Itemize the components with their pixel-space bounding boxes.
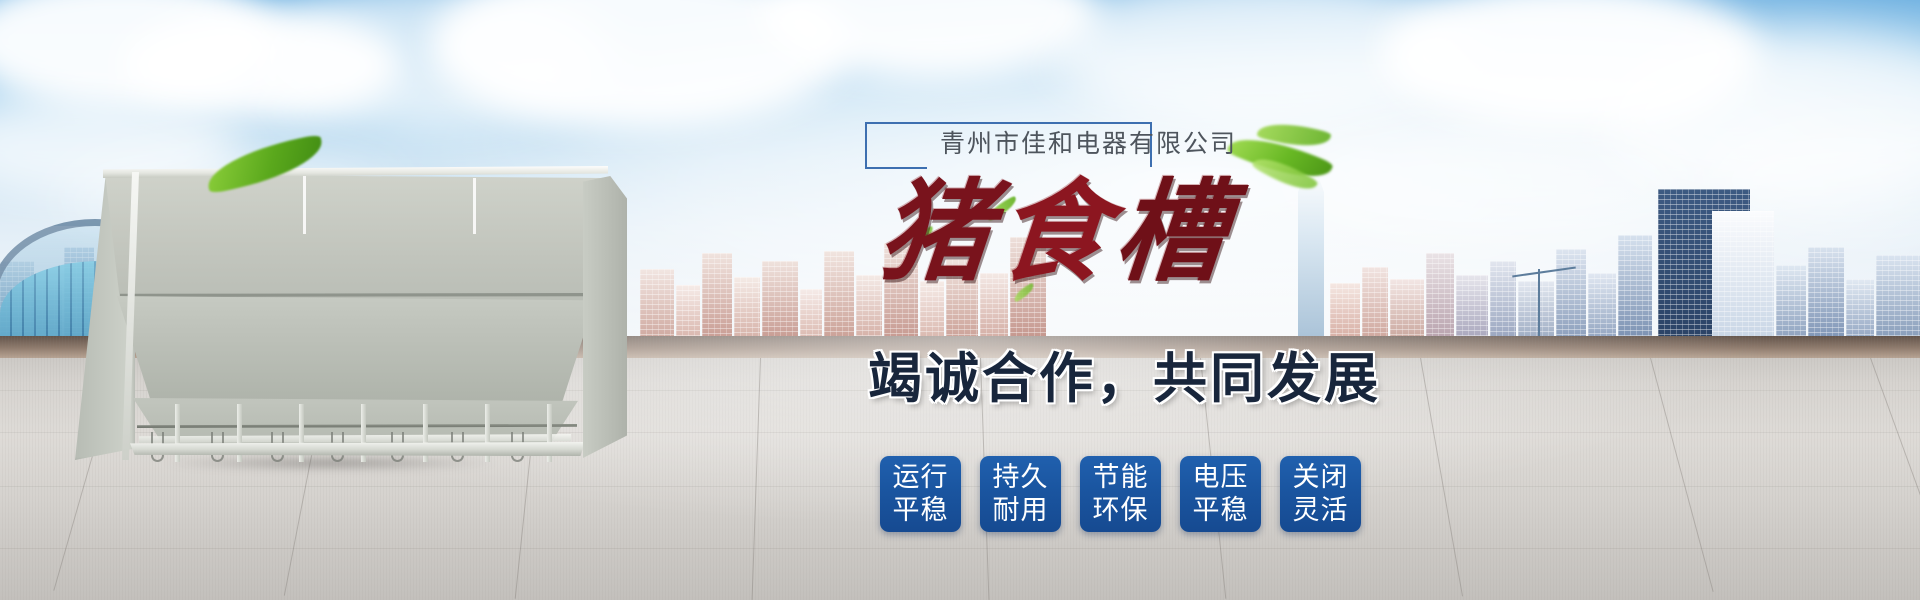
badge-line-1: 运行: [893, 461, 949, 494]
badge-line-2: 平稳: [893, 494, 949, 527]
building: [1588, 273, 1616, 339]
badge-line-2: 灵活: [1293, 494, 1349, 527]
title-char-3: 槽: [1110, 167, 1239, 296]
building: [640, 269, 674, 339]
badge-line-1: 关闭: [1293, 461, 1349, 494]
building: [1846, 279, 1874, 339]
trough-seam: [303, 176, 306, 234]
building: [1390, 279, 1424, 339]
building: [1362, 267, 1388, 339]
feature-badge[interactable]: 节能 环保: [1080, 456, 1161, 532]
building: [1490, 261, 1516, 339]
trough-right-panel: [583, 176, 627, 458]
trough-inner-face: [117, 296, 595, 404]
building: [1518, 281, 1554, 339]
construction-crane: [1538, 269, 1540, 339]
badge-line-2: 环保: [1093, 494, 1149, 527]
building: [1876, 255, 1920, 339]
building: [1808, 247, 1844, 339]
building: [676, 285, 700, 339]
tile-line-h: [0, 548, 1920, 549]
building: [734, 277, 760, 339]
promo-banner: 青州市佳和电器有限公司 猪食槽 竭诚合作，共同发展 运行 平稳 持久 耐用 节能…: [0, 0, 1920, 600]
trough-front-bar: [130, 442, 585, 456]
trough-back-wall: [105, 174, 605, 306]
trough-seam: [473, 178, 476, 234]
feature-badge[interactable]: 持久 耐用: [980, 456, 1061, 532]
building: [1456, 275, 1488, 339]
badge-line-1: 电压: [1193, 461, 1249, 494]
building-tower-white: [1712, 211, 1774, 339]
badge-line-2: 平稳: [1193, 494, 1249, 527]
building: [800, 289, 822, 339]
page-title: 猪食槽: [875, 173, 1305, 293]
building: [1556, 249, 1586, 339]
slogan-subtitle: 竭诚合作，共同发展: [868, 348, 1428, 410]
feature-badge[interactable]: 电压 平稳: [1180, 456, 1261, 532]
title-char-1: 猪: [874, 167, 1003, 296]
building: [1776, 265, 1806, 339]
product-steel-trough: [75, 160, 635, 470]
title-char-2: 食: [992, 167, 1121, 296]
building: [1618, 235, 1652, 339]
building: [762, 261, 798, 339]
building: [1426, 253, 1454, 339]
feature-badge[interactable]: 运行 平稳: [880, 456, 961, 532]
feature-badge[interactable]: 关闭 灵活: [1280, 456, 1361, 532]
building: [1330, 283, 1360, 339]
feature-badge-list: 运行 平稳 持久 耐用 节能 环保 电压 平稳 关闭 灵活: [880, 456, 1361, 532]
company-name: 青州市佳和电器有限公司: [940, 124, 1360, 160]
building: [824, 251, 854, 339]
building: [702, 253, 732, 339]
badge-line-2: 耐用: [993, 494, 1049, 527]
badge-line-1: 持久: [993, 461, 1049, 494]
badge-line-1: 节能: [1093, 461, 1149, 494]
